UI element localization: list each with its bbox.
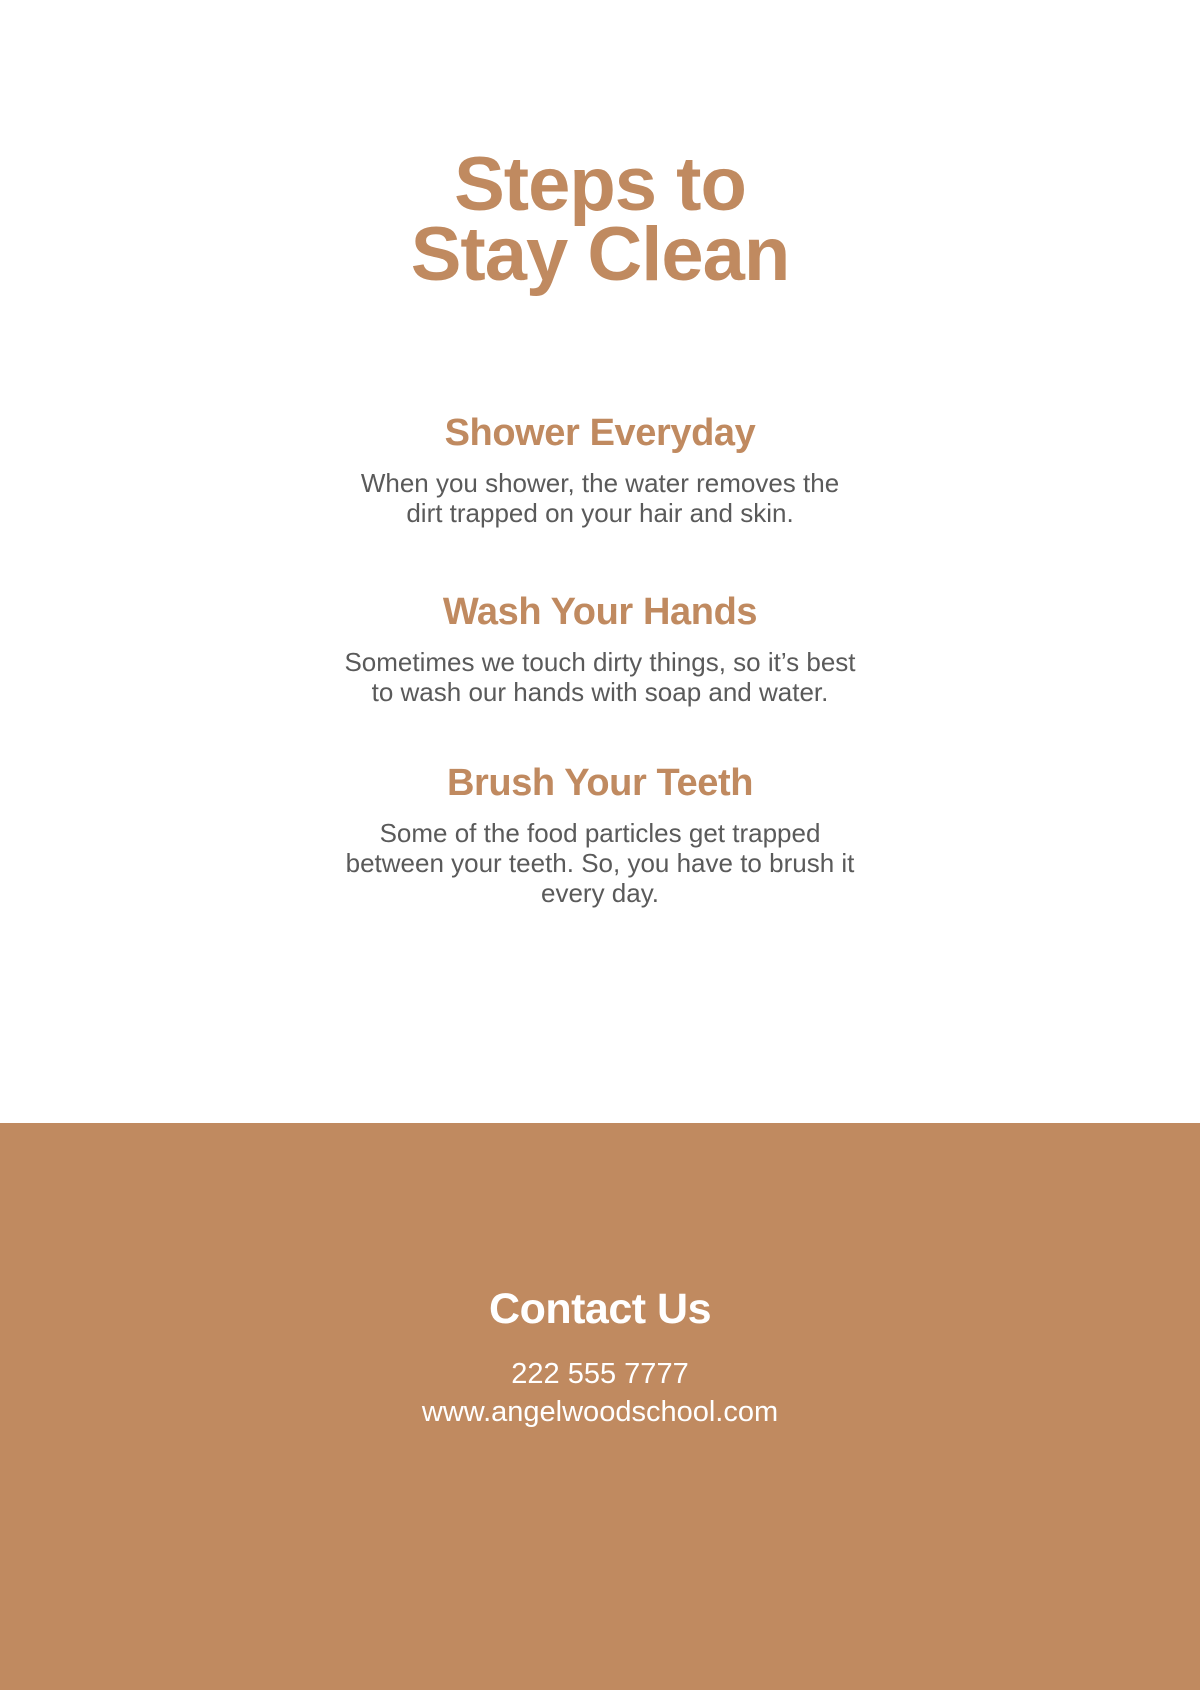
step-body-brush-teeth: Some of the food particles get trapped b…: [270, 818, 930, 908]
page-title-line-2: Stay Clean: [0, 220, 1200, 290]
steps-list: Shower Everyday When you shower, the wat…: [0, 405, 1200, 954]
poster-content: Steps to Stay Clean Shower Everyday When…: [0, 0, 1200, 1123]
step-heading-shower: Shower Everyday: [0, 405, 1200, 461]
step-body-line: every day.: [270, 878, 930, 908]
step-heading-wash-hands: Wash Your Hands: [0, 584, 1200, 640]
step-body-line: When you shower, the water removes the: [260, 468, 940, 498]
step-item-brush-teeth: Brush Your Teeth Some of the food partic…: [0, 755, 1200, 908]
step-body-line: to wash our hands with soap and water.: [250, 677, 950, 707]
step-heading-brush-teeth: Brush Your Teeth: [0, 755, 1200, 811]
footer-band: Contact Us 222 555 7777 www.angelwoodsch…: [0, 1123, 1200, 1690]
contact-website[interactable]: www.angelwoodschool.com: [0, 1393, 1200, 1431]
step-body-line: dirt trapped on your hair and skin.: [260, 498, 940, 528]
poster: Steps to Stay Clean Shower Everyday When…: [0, 0, 1200, 1690]
page-title-line-1: Steps to: [0, 150, 1200, 220]
step-body-line: between your teeth. So, you have to brus…: [270, 848, 930, 878]
contact-phone[interactable]: 222 555 7777: [0, 1355, 1200, 1393]
step-body-line: Some of the food particles get trapped: [270, 818, 930, 848]
step-item-wash-hands: Wash Your Hands Sometimes we touch dirty…: [0, 584, 1200, 707]
step-body-wash-hands: Sometimes we touch dirty things, so it’s…: [250, 647, 950, 707]
step-body-line: Sometimes we touch dirty things, so it’s…: [250, 647, 950, 677]
step-item-shower: Shower Everyday When you shower, the wat…: [0, 405, 1200, 528]
contact-block: Contact Us 222 555 7777 www.angelwoodsch…: [0, 1283, 1200, 1431]
contact-heading: Contact Us: [0, 1283, 1200, 1335]
step-body-shower: When you shower, the water removes the d…: [260, 468, 940, 528]
page-title: Steps to Stay Clean: [0, 150, 1200, 290]
